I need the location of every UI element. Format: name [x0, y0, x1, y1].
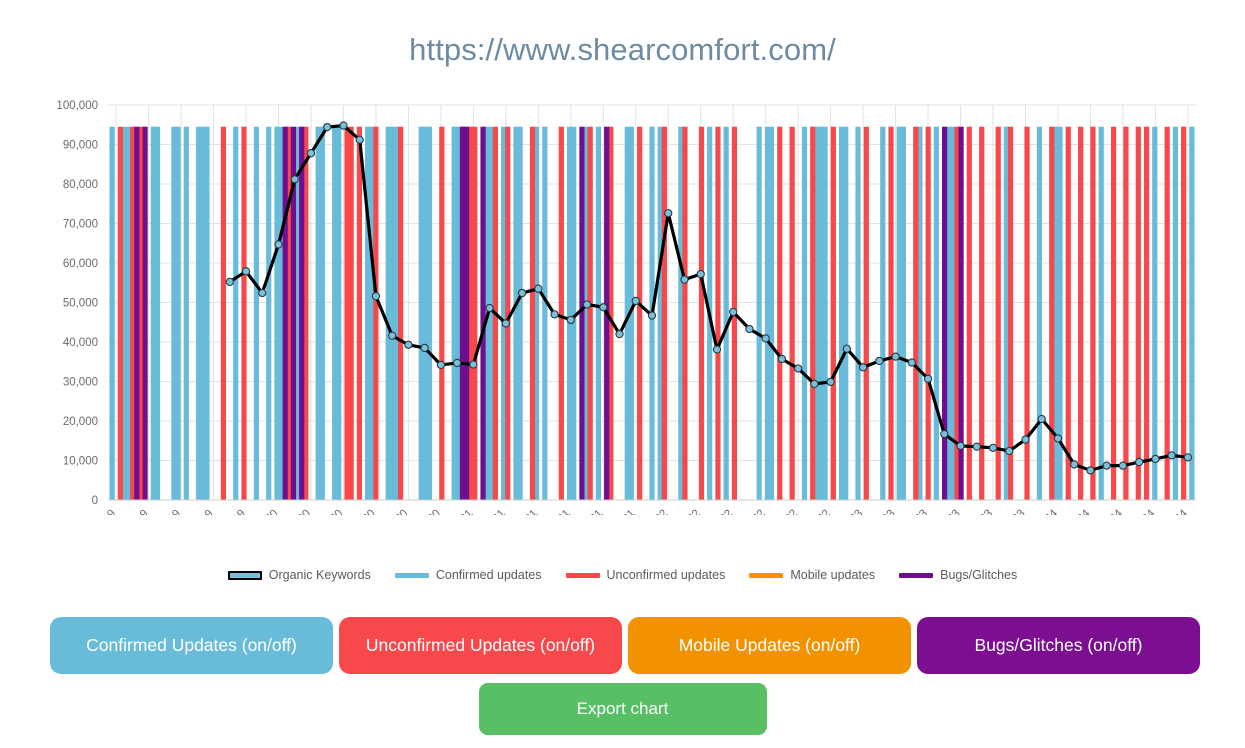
- y-axis-tick-label: 70,000: [63, 219, 98, 231]
- data-point-marker[interactable]: [502, 320, 509, 327]
- event-band-confirmed-updates: [175, 127, 180, 500]
- event-band-unconfirmed-updates: [699, 127, 704, 500]
- event-band-unconfirmed-updates: [1008, 127, 1013, 500]
- data-point-marker[interactable]: [259, 289, 266, 296]
- y-axis-tick-label: 0: [92, 495, 98, 507]
- data-point-marker[interactable]: [242, 268, 249, 275]
- data-point-marker[interactable]: [957, 442, 964, 449]
- legend-item-mobile-updates[interactable]: Mobile updates: [749, 568, 875, 582]
- data-point-marker[interactable]: [1119, 462, 1126, 469]
- legend-swatch: [749, 573, 783, 578]
- data-point-marker[interactable]: [1071, 461, 1078, 468]
- event-band-unconfirmed-updates: [715, 127, 720, 500]
- legend-item-organic-keywords[interactable]: Organic Keywords: [228, 568, 371, 582]
- event-band-unconfirmed-updates: [373, 127, 378, 500]
- event-band-unconfirmed-updates: [810, 127, 815, 500]
- data-point-marker[interactable]: [1054, 435, 1061, 442]
- event-band-confirmed-updates: [1189, 127, 1194, 500]
- x-axis-tick-label: Jul 2021: [534, 508, 573, 515]
- data-point-marker[interactable]: [713, 346, 720, 353]
- y-axis-tick-label: 80,000: [63, 179, 98, 191]
- event-band-unconfirmed-updates: [1111, 127, 1116, 500]
- event-band-unconfirmed-updates: [1090, 127, 1095, 500]
- legend-label: Bugs/Glitches: [940, 568, 1017, 582]
- data-point-marker[interactable]: [778, 355, 785, 362]
- unconfirmed-updates-toggle[interactable]: Unconfirmed Updates (on/off): [339, 617, 622, 674]
- event-band-confirmed-updates: [934, 127, 939, 500]
- data-point-marker[interactable]: [324, 124, 331, 131]
- event-band-confirmed-updates: [901, 127, 906, 500]
- data-point-marker[interactable]: [632, 297, 639, 304]
- event-band-confirmed-updates: [110, 127, 115, 500]
- bugs-glitches-toggle[interactable]: Bugs/Glitches (on/off): [917, 617, 1200, 674]
- y-axis-tick-label: 20,000: [63, 416, 98, 428]
- event-band-confirmed-updates: [880, 127, 885, 500]
- event-band-confirmed-updates: [266, 127, 271, 500]
- data-point-marker[interactable]: [860, 364, 867, 371]
- event-band-unconfirmed-updates: [888, 127, 893, 500]
- legend-item-bugs-glitches[interactable]: Bugs/Glitches: [899, 568, 1017, 582]
- data-point-marker[interactable]: [535, 285, 542, 292]
- data-point-marker[interactable]: [372, 293, 379, 300]
- event-band-confirmed-updates: [1152, 127, 1157, 500]
- event-band-unconfirmed-updates: [118, 127, 123, 500]
- event-band-confirmed-updates: [427, 127, 432, 500]
- data-point-marker[interactable]: [908, 359, 915, 366]
- event-band-confirmed-updates: [542, 127, 547, 500]
- data-point-marker[interactable]: [1184, 454, 1191, 461]
- data-point-marker[interactable]: [470, 361, 477, 368]
- data-point-marker[interactable]: [307, 150, 314, 157]
- event-band-unconfirmed-updates: [1066, 127, 1071, 500]
- x-axis-tick-label: Jul 2024: [1118, 507, 1158, 515]
- event-band-unconfirmed-updates: [1049, 127, 1054, 500]
- data-point-marker[interactable]: [275, 241, 282, 248]
- data-point-marker[interactable]: [924, 375, 931, 382]
- data-point-marker[interactable]: [600, 304, 607, 311]
- event-band-unconfirmed-updates: [559, 127, 564, 500]
- data-point-marker[interactable]: [892, 353, 899, 360]
- legend-swatch: [395, 573, 429, 578]
- data-point-marker[interactable]: [989, 444, 996, 451]
- event-band-bugs-glitches: [942, 127, 947, 500]
- x-axis-tick-label: Jul 2020: [339, 508, 378, 515]
- event-band-unconfirmed-updates: [1144, 127, 1149, 500]
- event-band-confirmed-updates: [769, 127, 774, 500]
- x-axis-tick-label: Jul 2019: [144, 508, 183, 515]
- event-band-confirmed-updates: [254, 127, 259, 500]
- data-point-marker[interactable]: [486, 304, 493, 311]
- event-band-confirmed-updates: [757, 127, 762, 500]
- y-axis-tick-label: 90,000: [63, 140, 98, 152]
- legend-swatch: [566, 573, 600, 578]
- event-band-unconfirmed-updates: [926, 127, 931, 500]
- event-band-unconfirmed-updates: [790, 127, 795, 500]
- data-point-marker[interactable]: [421, 344, 428, 351]
- event-band-bugs-glitches: [579, 127, 584, 500]
- data-point-marker[interactable]: [843, 345, 850, 352]
- event-band-confirmed-updates: [320, 127, 325, 500]
- data-point-marker[interactable]: [762, 335, 769, 342]
- data-point-marker[interactable]: [616, 331, 623, 338]
- legend-label: Confirmed updates: [436, 568, 542, 582]
- legend-label: Unconfirmed updates: [607, 568, 726, 582]
- event-band-confirmed-updates: [596, 127, 601, 500]
- event-band-unconfirmed-updates: [588, 127, 593, 500]
- event-band-confirmed-updates: [1099, 127, 1104, 500]
- data-point-marker[interactable]: [730, 308, 737, 315]
- data-point-marker[interactable]: [1038, 415, 1045, 422]
- data-point-marker[interactable]: [665, 210, 672, 217]
- data-point-marker[interactable]: [795, 365, 802, 372]
- data-point-marker[interactable]: [1168, 452, 1175, 459]
- event-band-confirmed-updates: [518, 127, 523, 500]
- data-point-marker[interactable]: [1103, 462, 1110, 469]
- event-band-bugs-glitches: [283, 127, 288, 500]
- event-band-unconfirmed-updates: [831, 127, 836, 500]
- data-point-marker[interactable]: [226, 278, 233, 285]
- data-point-marker[interactable]: [567, 316, 574, 323]
- event-band-unconfirmed-updates: [637, 127, 642, 500]
- data-point-marker[interactable]: [1152, 455, 1159, 462]
- event-band-confirmed-updates: [843, 127, 848, 500]
- chart-svg: 010,00020,00030,00040,00050,00060,00070,…: [0, 95, 1245, 515]
- data-point-marker[interactable]: [811, 380, 818, 387]
- x-axis-tick-label: Jul 2022: [729, 508, 768, 515]
- event-band-unconfirmed-updates: [241, 127, 246, 500]
- chart-legend: Organic KeywordsConfirmed updatesUnconfi…: [0, 568, 1245, 582]
- x-axis-tick-label: Mar 2019: [75, 508, 118, 515]
- event-band-confirmed-updates: [204, 127, 209, 500]
- export-row: Export chart: [0, 683, 1245, 735]
- event-band-confirmed-updates: [724, 127, 729, 500]
- data-point-marker[interactable]: [1087, 467, 1094, 474]
- event-band-unconfirmed-updates: [349, 127, 354, 500]
- event-band-bugs-glitches: [299, 127, 304, 500]
- data-point-marker[interactable]: [583, 301, 590, 308]
- event-band-confirmed-updates: [184, 127, 189, 500]
- y-axis-tick-label: 50,000: [63, 298, 98, 310]
- event-band-unconfirmed-updates: [1165, 127, 1170, 500]
- event-band-unconfirmed-updates: [913, 127, 918, 500]
- event-band-bugs-glitches: [142, 127, 147, 500]
- data-point-marker[interactable]: [1006, 447, 1013, 454]
- legend-swatch: [228, 571, 262, 580]
- data-point-marker[interactable]: [648, 312, 655, 319]
- data-point-marker[interactable]: [697, 270, 704, 277]
- legend-label: Mobile updates: [790, 568, 875, 582]
- y-axis-tick-label: 60,000: [63, 258, 98, 270]
- event-band-confirmed-updates: [1037, 127, 1042, 500]
- legend-swatch: [899, 573, 933, 578]
- data-point-marker[interactable]: [1022, 436, 1029, 443]
- y-axis-tick-label: 30,000: [63, 377, 98, 389]
- data-point-marker[interactable]: [827, 378, 834, 385]
- y-axis-tick-label: 10,000: [63, 456, 98, 468]
- event-band-unconfirmed-updates: [398, 127, 403, 500]
- data-point-marker[interactable]: [746, 325, 753, 332]
- event-band-bugs-glitches: [134, 127, 139, 500]
- event-band-unconfirmed-updates: [967, 127, 972, 500]
- event-band-confirmed-updates: [855, 127, 860, 500]
- event-band-unconfirmed-updates: [1123, 127, 1128, 500]
- event-band-unconfirmed-updates: [662, 127, 667, 500]
- mobile-updates-toggle[interactable]: Mobile Updates (on/off): [628, 617, 911, 674]
- export-chart-button[interactable]: Export chart: [479, 683, 767, 735]
- x-axis-tick-label: Jul 2023: [923, 508, 962, 515]
- event-band-confirmed-updates: [155, 127, 160, 500]
- event-band-unconfirmed-updates: [864, 127, 869, 500]
- event-band-unconfirmed-updates: [530, 127, 535, 500]
- data-point-marker[interactable]: [518, 289, 525, 296]
- event-band-unconfirmed-updates: [682, 127, 687, 500]
- data-point-marker[interactable]: [356, 136, 363, 143]
- event-band-confirmed-updates: [233, 127, 238, 500]
- event-band-confirmed-updates: [336, 127, 341, 500]
- data-point-marker[interactable]: [1136, 458, 1143, 465]
- page-title: https://www.shearcomfort.com/: [0, 32, 1245, 68]
- event-band-unconfirmed-updates: [996, 127, 1001, 500]
- event-band-unconfirmed-updates: [221, 127, 226, 500]
- y-axis-tick-label: 100,000: [56, 100, 98, 112]
- data-point-marker[interactable]: [973, 443, 980, 450]
- event-band-confirmed-updates: [822, 127, 827, 500]
- legend-label: Organic Keywords: [269, 568, 371, 582]
- x-axis-tick-labels: Mar 2019May 2019Jul 2019Sep 2019Nov 2019…: [75, 507, 1190, 515]
- event-band-unconfirmed-updates: [439, 127, 444, 500]
- event-band-unconfirmed-updates: [1136, 127, 1141, 500]
- event-band-bugs-glitches: [464, 127, 469, 500]
- confirmed-updates-toggle[interactable]: Confirmed Updates (on/off): [50, 617, 333, 674]
- data-point-marker[interactable]: [405, 341, 412, 348]
- event-band-unconfirmed-updates: [472, 127, 477, 500]
- data-point-marker[interactable]: [437, 361, 444, 368]
- event-band-unconfirmed-updates: [1024, 127, 1029, 500]
- event-band-unconfirmed-updates: [357, 127, 362, 500]
- data-point-marker[interactable]: [389, 332, 396, 339]
- legend-item-confirmed-updates[interactable]: Confirmed updates: [395, 568, 542, 582]
- event-band-confirmed-updates: [1173, 127, 1178, 500]
- legend-item-unconfirmed-updates[interactable]: Unconfirmed updates: [566, 568, 726, 582]
- data-point-marker[interactable]: [551, 311, 558, 318]
- data-point-marker[interactable]: [876, 357, 883, 364]
- y-axis-tick-label: 40,000: [63, 337, 98, 349]
- event-band-bugs-glitches: [480, 127, 485, 500]
- data-point-marker[interactable]: [941, 430, 948, 437]
- event-band-confirmed-updates: [802, 127, 807, 500]
- data-point-marker[interactable]: [291, 176, 298, 183]
- chart-plot-area: 010,00020,00030,00040,00050,00060,00070,…: [0, 95, 1245, 515]
- toggle-button-row: Confirmed Updates (on/off)Unconfirmed Up…: [50, 617, 1200, 674]
- data-point-marker[interactable]: [681, 276, 688, 283]
- data-point-marker[interactable]: [340, 122, 347, 129]
- event-band-unconfirmed-updates: [1181, 127, 1186, 500]
- event-band-unconfirmed-updates: [1078, 127, 1083, 500]
- event-band-unconfirmed-updates: [777, 127, 782, 500]
- data-point-marker[interactable]: [454, 359, 461, 366]
